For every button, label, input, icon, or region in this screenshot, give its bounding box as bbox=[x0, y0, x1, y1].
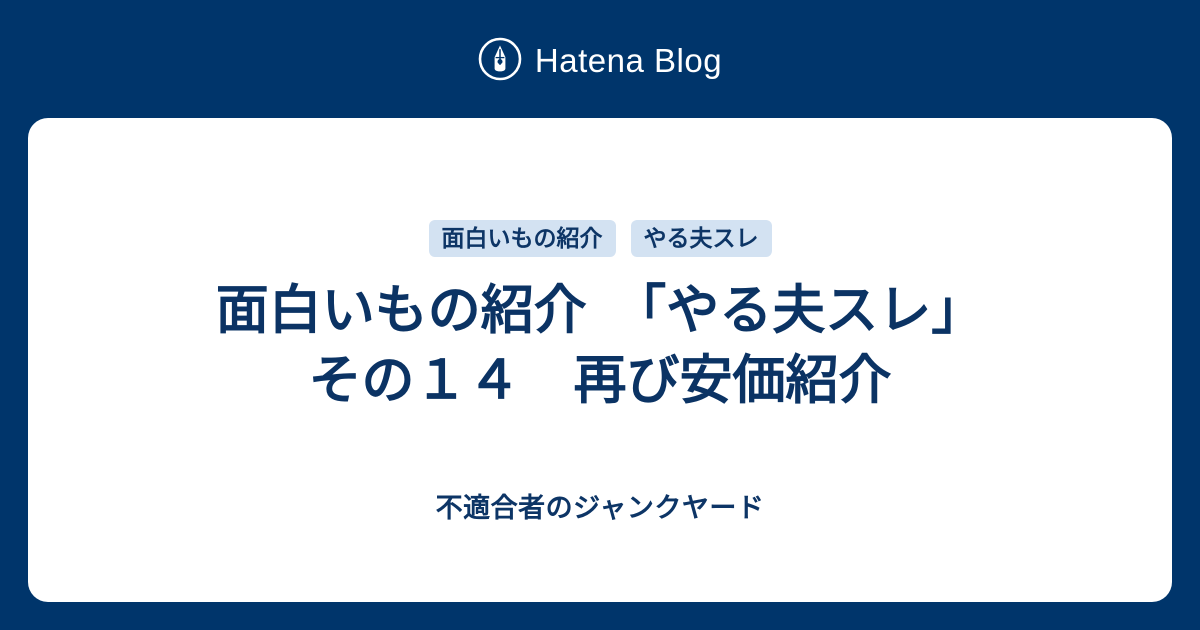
entry-title-line: 面白いもの紹介 「やる夫スレ」 bbox=[216, 276, 985, 346]
hatena-pen-nib-icon bbox=[478, 37, 522, 81]
entry-tag-list: 面白いもの紹介 やる夫スレ bbox=[429, 220, 772, 257]
entry-title: 面白いもの紹介 「やる夫スレ」 その１４ 再び安価紹介 bbox=[176, 276, 1025, 417]
hatena-blog-wordmark: Hatena Blog bbox=[535, 44, 722, 77]
entry-tag[interactable]: やる夫スレ bbox=[631, 220, 772, 257]
ogp-card-root: Hatena Blog 面白いもの紹介 やる夫スレ 面白いもの紹介 「やる夫スレ… bbox=[0, 0, 1200, 630]
entry-tag[interactable]: 面白いもの紹介 bbox=[429, 220, 616, 257]
entry-title-line: その１４ 再び安価紹介 bbox=[216, 346, 985, 416]
blog-name[interactable]: 不適合者のジャンクヤード bbox=[436, 495, 765, 522]
entry-card: 面白いもの紹介 やる夫スレ 面白いもの紹介 「やる夫スレ」 その１４ 再び安価紹… bbox=[28, 118, 1172, 602]
brand-header: Hatena Blog bbox=[0, 0, 1200, 118]
